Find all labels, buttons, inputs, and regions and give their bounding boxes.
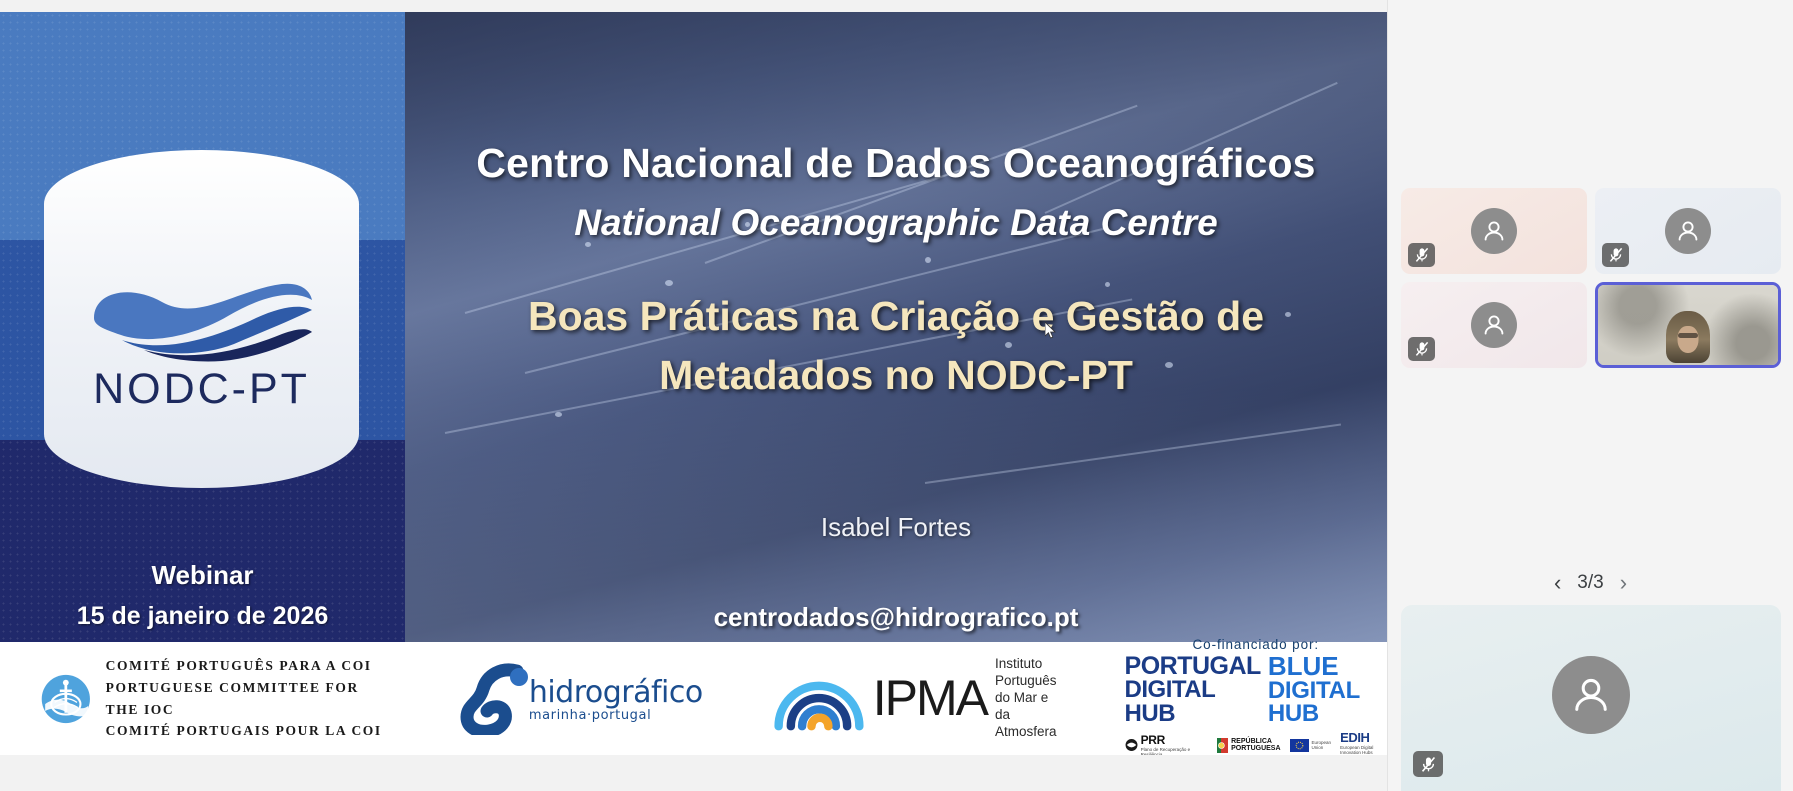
badge-edih: EDIH European Digital Innovation Hubs Ne…: [1340, 730, 1387, 755]
badge-republica-portuguesa: REPÚBLICA PORTUGUESA: [1217, 738, 1280, 753]
mic-off-icon: [1415, 341, 1429, 357]
hidrografico-sub: marinha·portugal: [529, 708, 703, 723]
pagination-label: 3/3: [1577, 572, 1603, 594]
ipma-sub-3: do Mar e da: [995, 690, 1063, 724]
nodc-logo-text: NODC-PT: [44, 365, 359, 414]
slide-author: Isabel Fortes: [405, 512, 1387, 543]
ipma-sub-2: Português: [995, 673, 1063, 690]
edih-label: EDIH: [1340, 730, 1387, 745]
eu-line-2: Union: [1312, 745, 1332, 750]
ipma-subtitle: Instituto Português do Mar e da Atmosfer…: [995, 656, 1063, 740]
funding-partner-badges: PRR Plano de Recuperação e Resiliência: [1125, 730, 1387, 755]
logo-funding-block: Co-financiado por: PORTUGAL DIGITAL HUB …: [1125, 637, 1387, 755]
presentation-slide: NODC-PT Webinar 15 de janeiro de 2026: [0, 12, 1387, 755]
ipma-acronym: IPMA: [873, 675, 987, 723]
avatar: [1471, 302, 1517, 348]
portugal-digital-hub-wordmark: PORTUGAL DIGITAL HUB: [1125, 654, 1261, 724]
prr-sublabel: Plano de Recuperação e Resiliência: [1141, 747, 1209, 755]
hidrografico-name: hidrográfico: [529, 675, 703, 710]
mic-off-badge: [1413, 751, 1443, 777]
slide-event-date: 15 de janeiro de 2026: [0, 602, 405, 631]
mic-off-badge: [1408, 243, 1435, 267]
ipma-rainbow-icon: [773, 666, 865, 732]
participant-rail: ‹ 3/3 ›: [1387, 0, 1793, 791]
coi-text-block: COMITÉ PORTUGUÊS PARA A COI PORTUGUESE C…: [106, 655, 387, 742]
mic-off-badge: [1408, 337, 1435, 361]
badge-european-union: European Union: [1290, 739, 1332, 752]
participant-tile-grid: [1401, 188, 1781, 368]
person-icon: [1481, 218, 1507, 244]
person-icon: [1675, 218, 1701, 244]
wave-infinity-icon: [86, 262, 318, 362]
blue-line-2: DIGITAL HUB: [1268, 679, 1387, 725]
slide-title-en: National Oceanographic Data Centre: [405, 202, 1387, 244]
edih-sub-2: Innovation Hubs Network: [1340, 750, 1387, 755]
logo-coi: COMITÉ PORTUGUÊS PARA A COI PORTUGUESE C…: [40, 655, 387, 742]
ipma-sub-1: Instituto: [995, 656, 1063, 673]
webcam-person-glasses: [1678, 333, 1698, 338]
coi-emblem-icon: [40, 669, 92, 729]
avatar: [1665, 208, 1711, 254]
mic-off-icon: [1609, 247, 1623, 263]
participant-tile-2[interactable]: [1595, 188, 1781, 274]
eu-text: European Union: [1312, 740, 1332, 750]
avatar: [1471, 208, 1517, 254]
slide-footer-logos: COMITÉ PORTUGUÊS PARA A COI PORTUGUESE C…: [0, 642, 1387, 755]
republica-shield-icon: [1217, 738, 1228, 753]
funding-wordmarks: PORTUGAL DIGITAL HUB BLUE DIGITAL HUB: [1125, 654, 1387, 725]
pdh-line-2: DIGITAL HUB: [1125, 678, 1261, 724]
shared-screen-stage[interactable]: NODC-PT Webinar 15 de janeiro de 2026: [0, 0, 1387, 791]
ipma-sub-4: Atmosfera: [995, 724, 1063, 741]
coi-line-2: PORTUGUESE COMMITTEE FOR THE IOC: [106, 677, 387, 721]
participant-tile-1[interactable]: [1401, 188, 1587, 274]
prr-label: PRR: [1141, 733, 1209, 747]
badge-prr: PRR Plano de Recuperação e Resiliência: [1125, 733, 1209, 755]
participant-pagination: ‹ 3/3 ›: [1388, 572, 1793, 594]
avatar: [1552, 656, 1630, 734]
slide-title-pt: Centro Nacional de Dados Oceanográficos: [405, 140, 1387, 187]
republica-line-2: PORTUGUESA: [1231, 745, 1280, 752]
mic-off-icon: [1415, 247, 1429, 263]
co-financed-label: Co-financiado por:: [1193, 637, 1320, 652]
pagination-prev-button[interactable]: ‹: [1554, 572, 1561, 594]
prr-globe-icon: [1125, 738, 1138, 752]
slide-talk-title: Boas Práticas na Criação e Gestão de Met…: [405, 287, 1387, 406]
participant-tile-3[interactable]: [1401, 282, 1587, 368]
pagination-next-button[interactable]: ›: [1620, 572, 1627, 594]
mic-off-badge: [1602, 243, 1629, 267]
coi-line-1: COMITÉ PORTUGUÊS PARA A COI: [106, 655, 387, 677]
webcam-video: [1598, 285, 1778, 365]
blue-digital-hub-wordmark: BLUE DIGITAL HUB: [1268, 654, 1387, 725]
republica-line-1: REPÚBLICA: [1231, 738, 1280, 745]
nodc-logo-card: NODC-PT: [44, 150, 359, 488]
mic-off-icon: [1421, 756, 1436, 773]
logo-hidrografico: hidrográfico marinha·portugal: [457, 663, 703, 735]
eu-flag-icon: [1290, 739, 1309, 752]
coi-line-3: COMITÉ PORTUGAIS POUR LA COI: [106, 720, 387, 742]
slide-event-label: Webinar: [0, 560, 405, 591]
person-icon: [1569, 673, 1613, 717]
featured-participant-tile[interactable]: [1401, 605, 1781, 791]
logo-ipma: IPMA Instituto Português do Mar e da Atm…: [773, 656, 1063, 740]
webcam-person-face: [1678, 326, 1699, 353]
hidrografico-mark-icon: [457, 663, 535, 735]
person-icon: [1481, 312, 1507, 338]
participant-tile-4-active-speaker[interactable]: [1595, 282, 1781, 368]
pdh-line-1: PORTUGAL: [1125, 654, 1261, 678]
blue-line-1: BLUE: [1268, 654, 1387, 679]
meeting-screen: NODC-PT Webinar 15 de janeiro de 2026: [0, 0, 1793, 791]
slide-wave-photo: Centro Nacional de Dados Oceanográficos …: [405, 12, 1387, 642]
republica-text: REPÚBLICA PORTUGUESA: [1231, 738, 1280, 753]
slide-contact-email: centrodados@hidrografico.pt: [405, 602, 1387, 633]
